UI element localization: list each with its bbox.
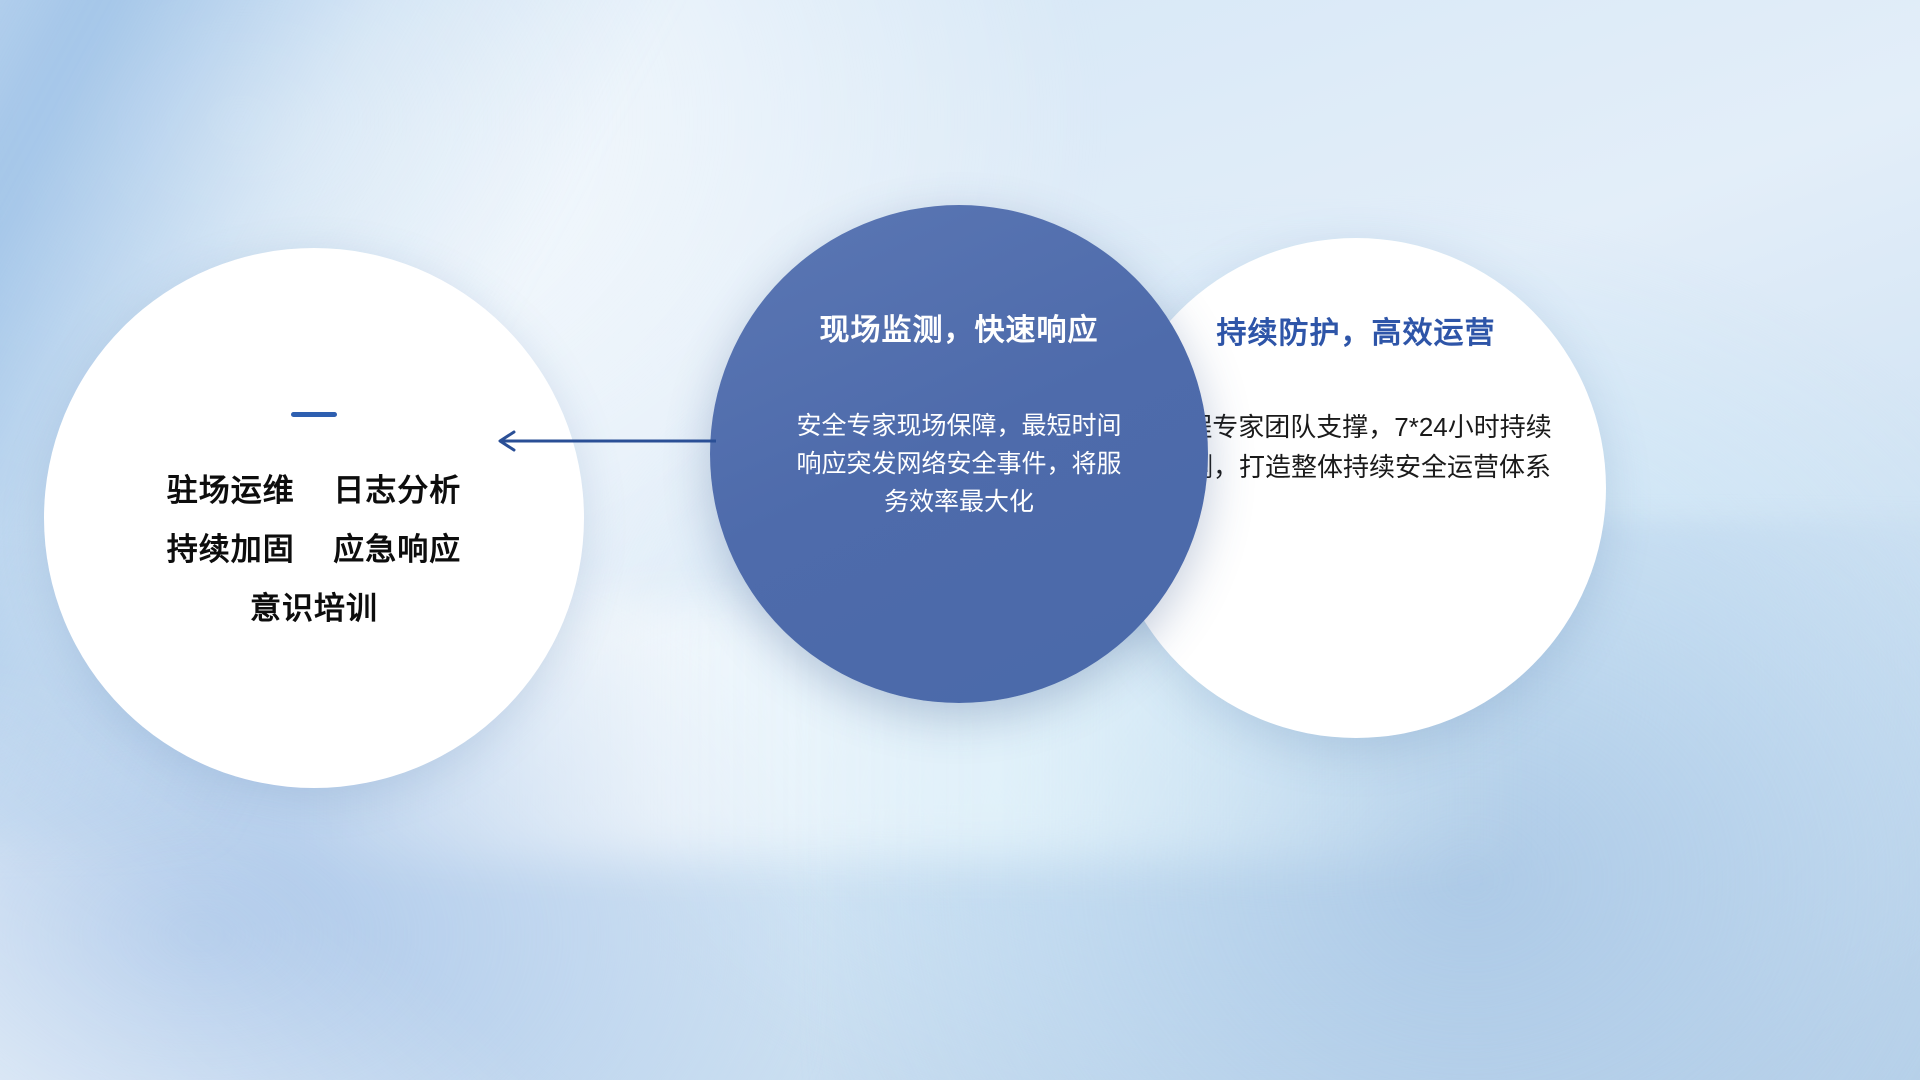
capabilities-line-2: 持续加固 应急响应	[167, 534, 461, 565]
capabilities-line-1: 驻场运维 日志分析	[167, 475, 461, 506]
onsite-monitoring-circle[interactable]: 现场监测，快速响应 安全专家现场保障，最短时间响应突发网络安全事件，将服务效率最…	[710, 205, 1208, 703]
slide-canvas: 驻场运维 日志分析 持续加固 应急响应 意识培训 持续防护，高效运营 远程专家团…	[0, 0, 1920, 1080]
continuous-protection-body: 远程专家团队支撑，7*24小时持续监测，打造整体持续安全运营体系	[1150, 408, 1562, 487]
onsite-monitoring-title: 现场监测，快速响应	[820, 305, 1099, 349]
divider-dash-icon	[291, 412, 337, 417]
capabilities-line-3: 意识培训	[250, 593, 378, 624]
flow-arrow-left	[488, 424, 720, 458]
capabilities-list: 驻场运维 日志分析 持续加固 应急响应 意识培训	[167, 475, 461, 624]
capabilities-circle[interactable]: 驻场运维 日志分析 持续加固 应急响应 意识培训	[44, 248, 584, 788]
continuous-protection-title: 持续防护，高效运营	[1217, 308, 1496, 352]
onsite-monitoring-body: 安全专家现场保障，最短时间响应突发网络安全事件，将服务效率最大化	[794, 407, 1124, 521]
